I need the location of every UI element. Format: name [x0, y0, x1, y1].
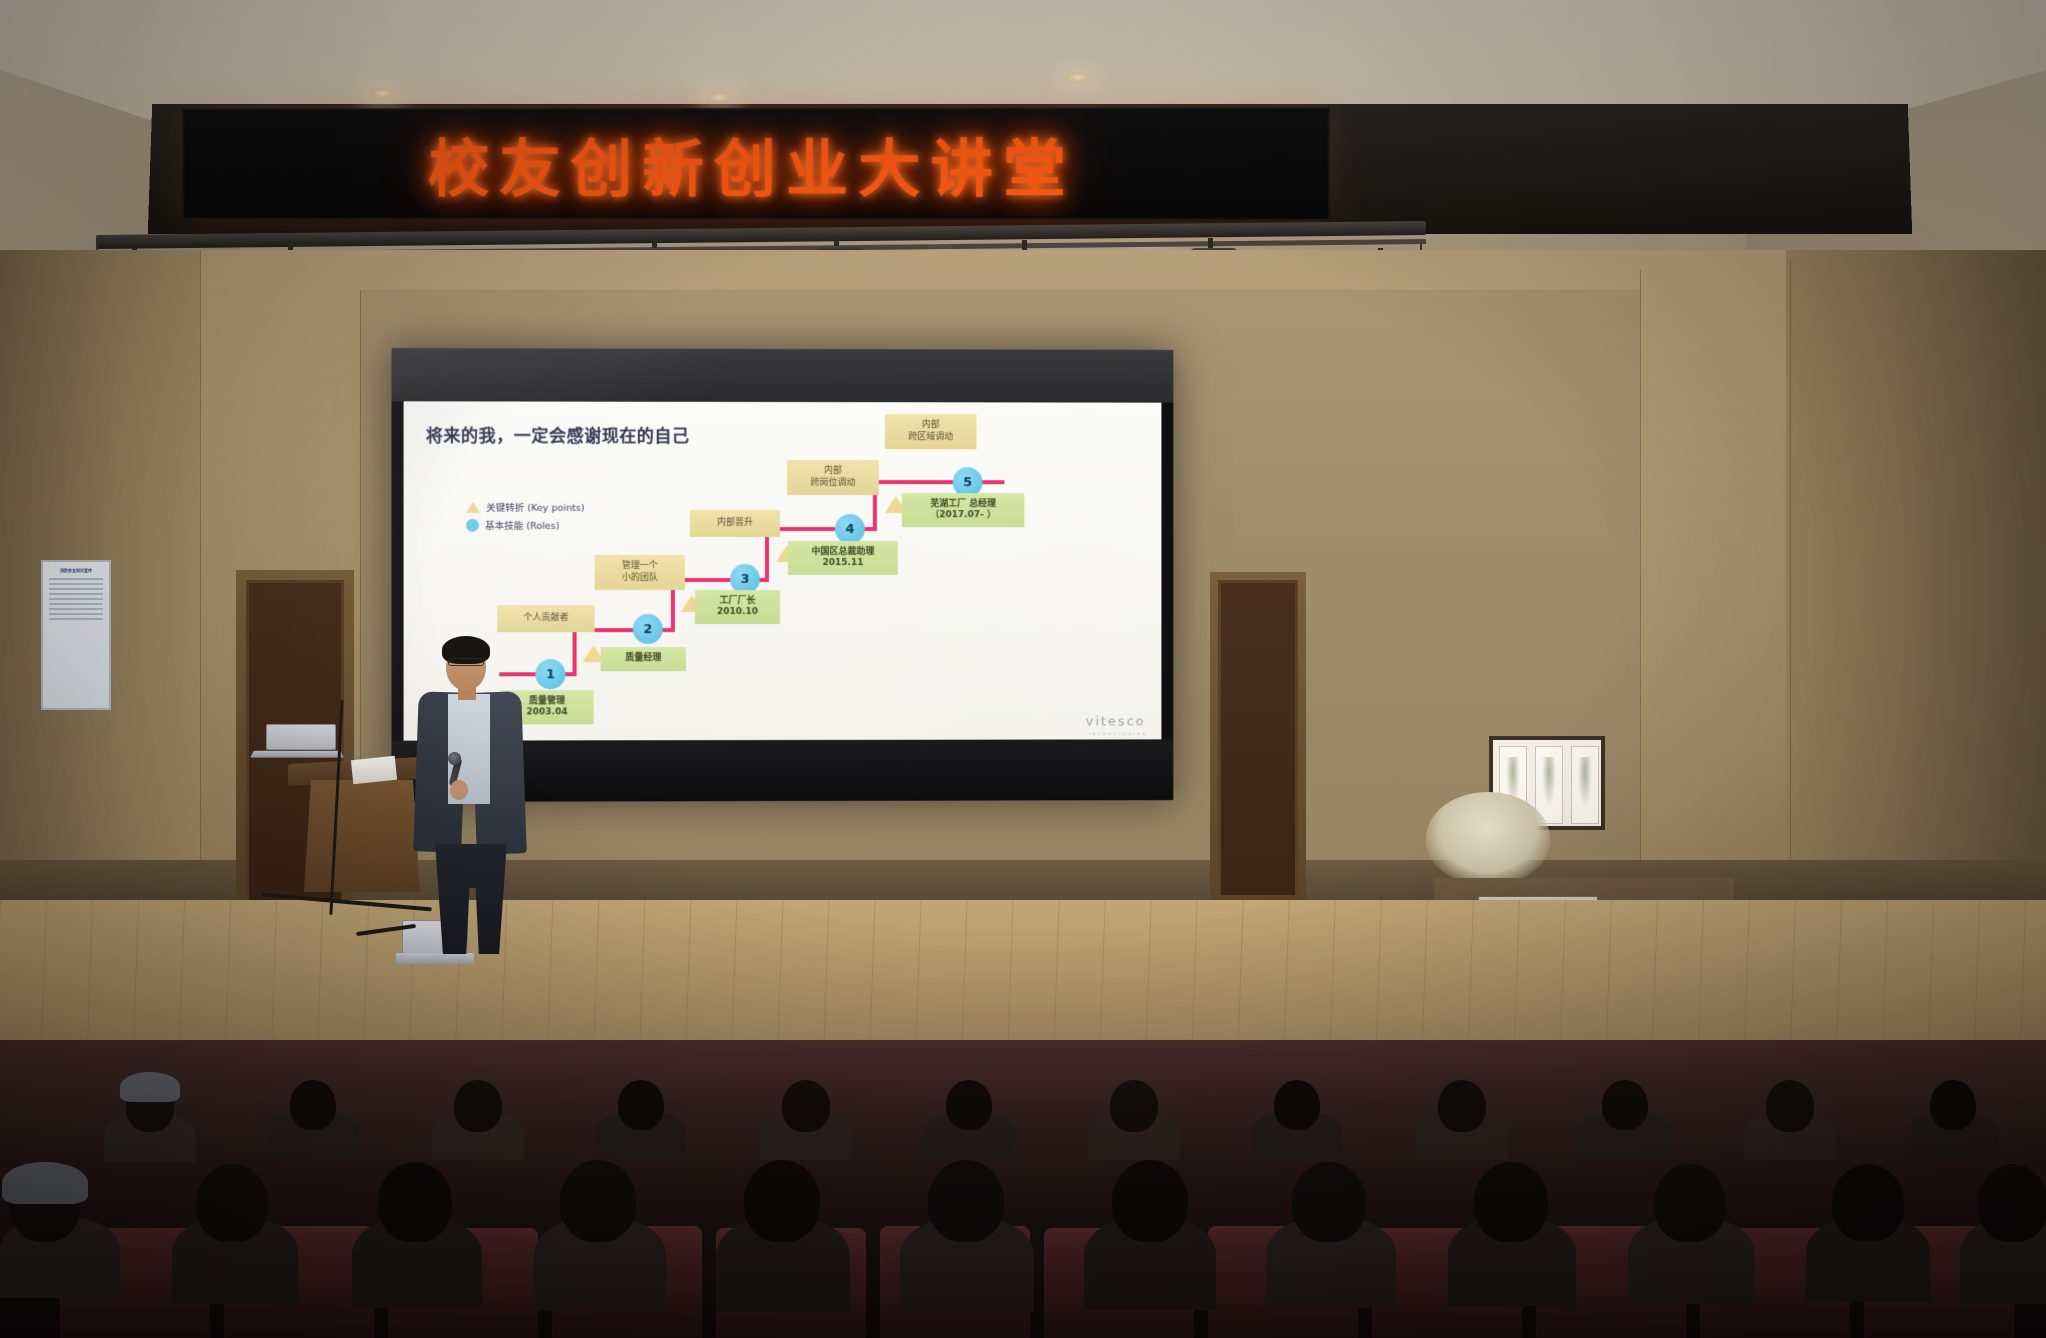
- poster-title: 消防安全知识宣传: [49, 568, 103, 574]
- wall-seam: [1790, 260, 1791, 940]
- led-banner: 校友创新创业大讲堂: [182, 107, 1331, 220]
- keypoint-box-2: 管理一个 小的团队: [595, 555, 685, 590]
- glasses-icon: [448, 658, 484, 666]
- keypoint-box-4: 内部 跨岗位调动: [787, 460, 879, 495]
- wall-seam: [200, 250, 201, 950]
- downlight-icon: [370, 88, 396, 99]
- hand: [450, 780, 468, 800]
- role-box-4: 中国区总裁助理 2015.11: [788, 541, 898, 575]
- papers: [351, 756, 397, 784]
- microphone-head-icon: [448, 752, 461, 765]
- role-box-5: 芜湖工厂 总经理 （2017.07- ）: [902, 493, 1025, 527]
- downlight-icon: [706, 92, 732, 103]
- role-box-3: 工厂厂长 2010.10: [695, 590, 780, 624]
- audience-area: [0, 1040, 2046, 1338]
- step-node-4: 4: [835, 514, 865, 544]
- keypoint-box-1: 个人贡献者: [497, 605, 594, 632]
- vitesco-logo-subtitle: T E C H N O L O G I E S: [1088, 731, 1145, 736]
- screen-top-mask: [391, 348, 1173, 403]
- wall-seam: [1640, 270, 1641, 930]
- notice-poster: 消防安全知识宣传: [41, 560, 111, 710]
- wall-right-panel: [1786, 250, 2046, 950]
- role-box-2: 质量经理: [601, 647, 686, 671]
- vitesco-logo: vitesco: [1086, 714, 1146, 729]
- keypoint-box-3: 内部晋升: [690, 510, 780, 537]
- ceiling-soffit: [0, 0, 2046, 120]
- step-node-2: 2: [633, 614, 663, 644]
- decorative-plant: [1426, 792, 1550, 884]
- step-node-1: 1: [535, 659, 565, 689]
- led-banner-text: 校友创新创业大讲堂: [428, 119, 1076, 210]
- auditorium-scene: 校友创新创业大讲堂 消防安全: [0, 0, 2046, 1338]
- downlight-icon: [1065, 72, 1091, 83]
- keypoint-box-5: 内部 跨区域调动: [885, 414, 977, 449]
- laptop-icon[interactable]: [252, 724, 338, 758]
- presenter: [404, 630, 534, 930]
- door-icon[interactable]: [1218, 580, 1298, 898]
